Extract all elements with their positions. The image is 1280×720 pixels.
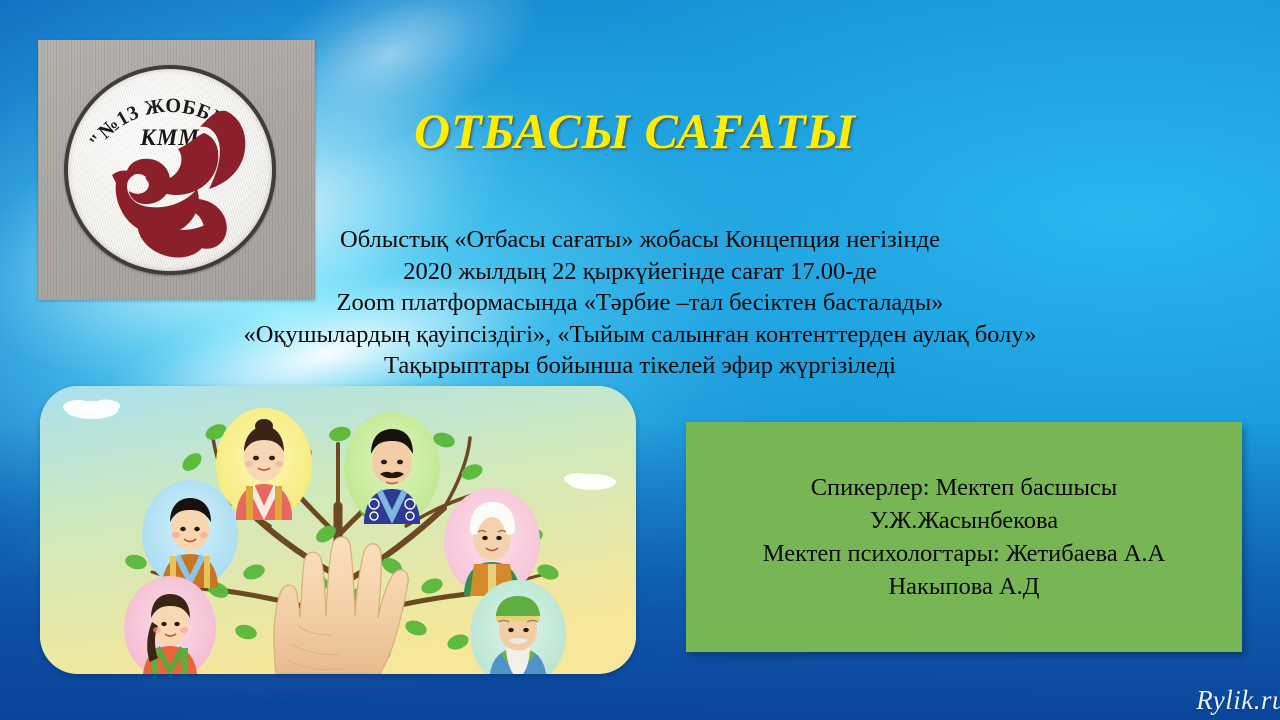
speakers-text: Спикерлер: Мектеп басшысы У.Ж.Жасынбеков… <box>686 471 1242 603</box>
family-tree-image <box>40 386 636 674</box>
speakers-line-3: Мектеп психологтары: Жетибаева А.А <box>686 537 1242 570</box>
body-line-1: Облыстық «Отбасы сағаты» жобасы Концепци… <box>170 224 1110 256</box>
body-line-2: 2020 жылдың 22 қыркүйегінде сағат 17.00-… <box>170 256 1110 288</box>
speakers-line-1: Спикерлер: Мектеп басшысы <box>686 471 1242 504</box>
portrait-grandmother <box>444 488 540 596</box>
body-line-4: «Оқушылардың қауіпсіздігі», «Тыйым салын… <box>170 319 1110 351</box>
slide-title: ОТБАСЫ САҒАТЫ <box>330 105 940 158</box>
portrait-boy <box>142 480 238 588</box>
portrait-father <box>344 412 440 524</box>
slide-body-text: Облыстық «Отбасы сағаты» жобасы Концепци… <box>170 224 1110 382</box>
presentation-slide: "№13 ЖОББМ" КММ ОТБАСЫ САҒАТЫ Облыстық «… <box>0 0 1280 720</box>
portrait-mother <box>216 408 312 520</box>
speakers-line-4: Накыпова А.Д <box>686 570 1242 603</box>
body-line-5: Тақырыптары бойынша тікелей эфир жүргізі… <box>170 350 1110 382</box>
speakers-box: Спикерлер: Мектеп басшысы У.Ж.Жасынбеков… <box>686 422 1242 652</box>
speakers-line-2: У.Ж.Жасынбекова <box>686 504 1242 537</box>
body-line-3: Zoom платформасында «Тәрбие –тал бесікте… <box>170 287 1110 319</box>
watermark: Rylik.ru <box>1196 685 1280 716</box>
family-tree-illustration <box>40 386 636 674</box>
